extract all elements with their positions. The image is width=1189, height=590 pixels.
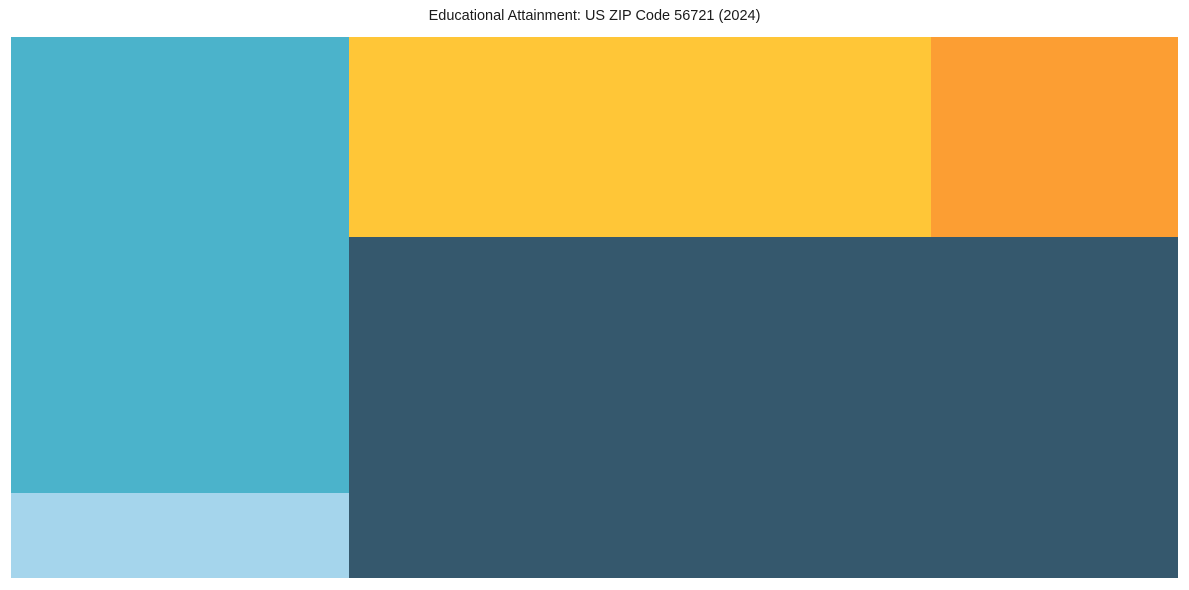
treemap-figure: Educational Attainment: US ZIP Code 5672… (0, 0, 1189, 590)
treemap-tile[interactable]: Graduate or professional degree (11, 493, 349, 578)
chart-title: Educational Attainment: US ZIP Code 5672… (0, 7, 1189, 25)
treemap-tile[interactable]: Associate's degree (931, 37, 1178, 237)
treemap-tile[interactable]: High school graduate (11, 37, 349, 493)
treemap-tile[interactable]: Bachelor's degree (349, 37, 931, 237)
treemap-tile[interactable]: Some college, no degree (349, 237, 1178, 578)
treemap-plot-area: Some college, no degreeHigh school gradu… (11, 37, 1178, 578)
